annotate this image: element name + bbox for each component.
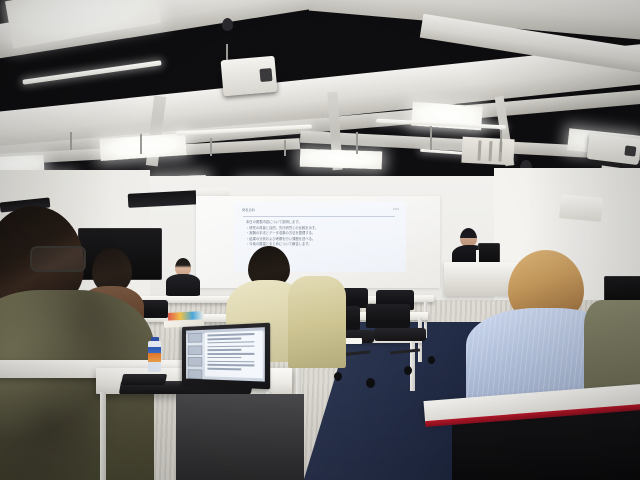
lecture-hall-photo: 発表資料 2024 本日の発表内容について説明します。 ・研究の背景と目的、先行… bbox=[0, 0, 640, 480]
laptop-document-area[interactable] bbox=[205, 330, 263, 378]
laptop-screen[interactable] bbox=[186, 327, 265, 381]
wall-av-box bbox=[559, 194, 603, 222]
slide-thumbnail-panel[interactable] bbox=[188, 333, 202, 377]
hvac-vent bbox=[461, 137, 514, 166]
drink-bottle bbox=[148, 337, 161, 372]
student-glasses-camo-jacket bbox=[0, 206, 154, 480]
chair bbox=[366, 304, 410, 328]
smartphone[interactable] bbox=[121, 374, 167, 385]
seated-person-front-row bbox=[166, 258, 200, 294]
desk-modesty-panel bbox=[176, 394, 304, 480]
slide-corner-text: 2024 bbox=[393, 207, 399, 211]
ceiling-projector bbox=[587, 133, 640, 165]
slide-body: 本日の発表内容について説明します。 ・研究の背景と目的、先行研究との比較を示す。… bbox=[246, 220, 396, 248]
open-laptop[interactable] bbox=[182, 323, 270, 390]
student-olive-jacket bbox=[288, 276, 346, 368]
slide-title: 発表資料 bbox=[242, 207, 255, 212]
slide-divider bbox=[243, 216, 395, 217]
dome-camera bbox=[222, 18, 233, 31]
led-panel-light bbox=[99, 133, 186, 161]
linear-tube-light bbox=[22, 60, 161, 84]
eyeglasses-icon bbox=[30, 246, 86, 272]
ceiling-projector bbox=[221, 56, 278, 97]
led-panel-light bbox=[300, 149, 383, 170]
